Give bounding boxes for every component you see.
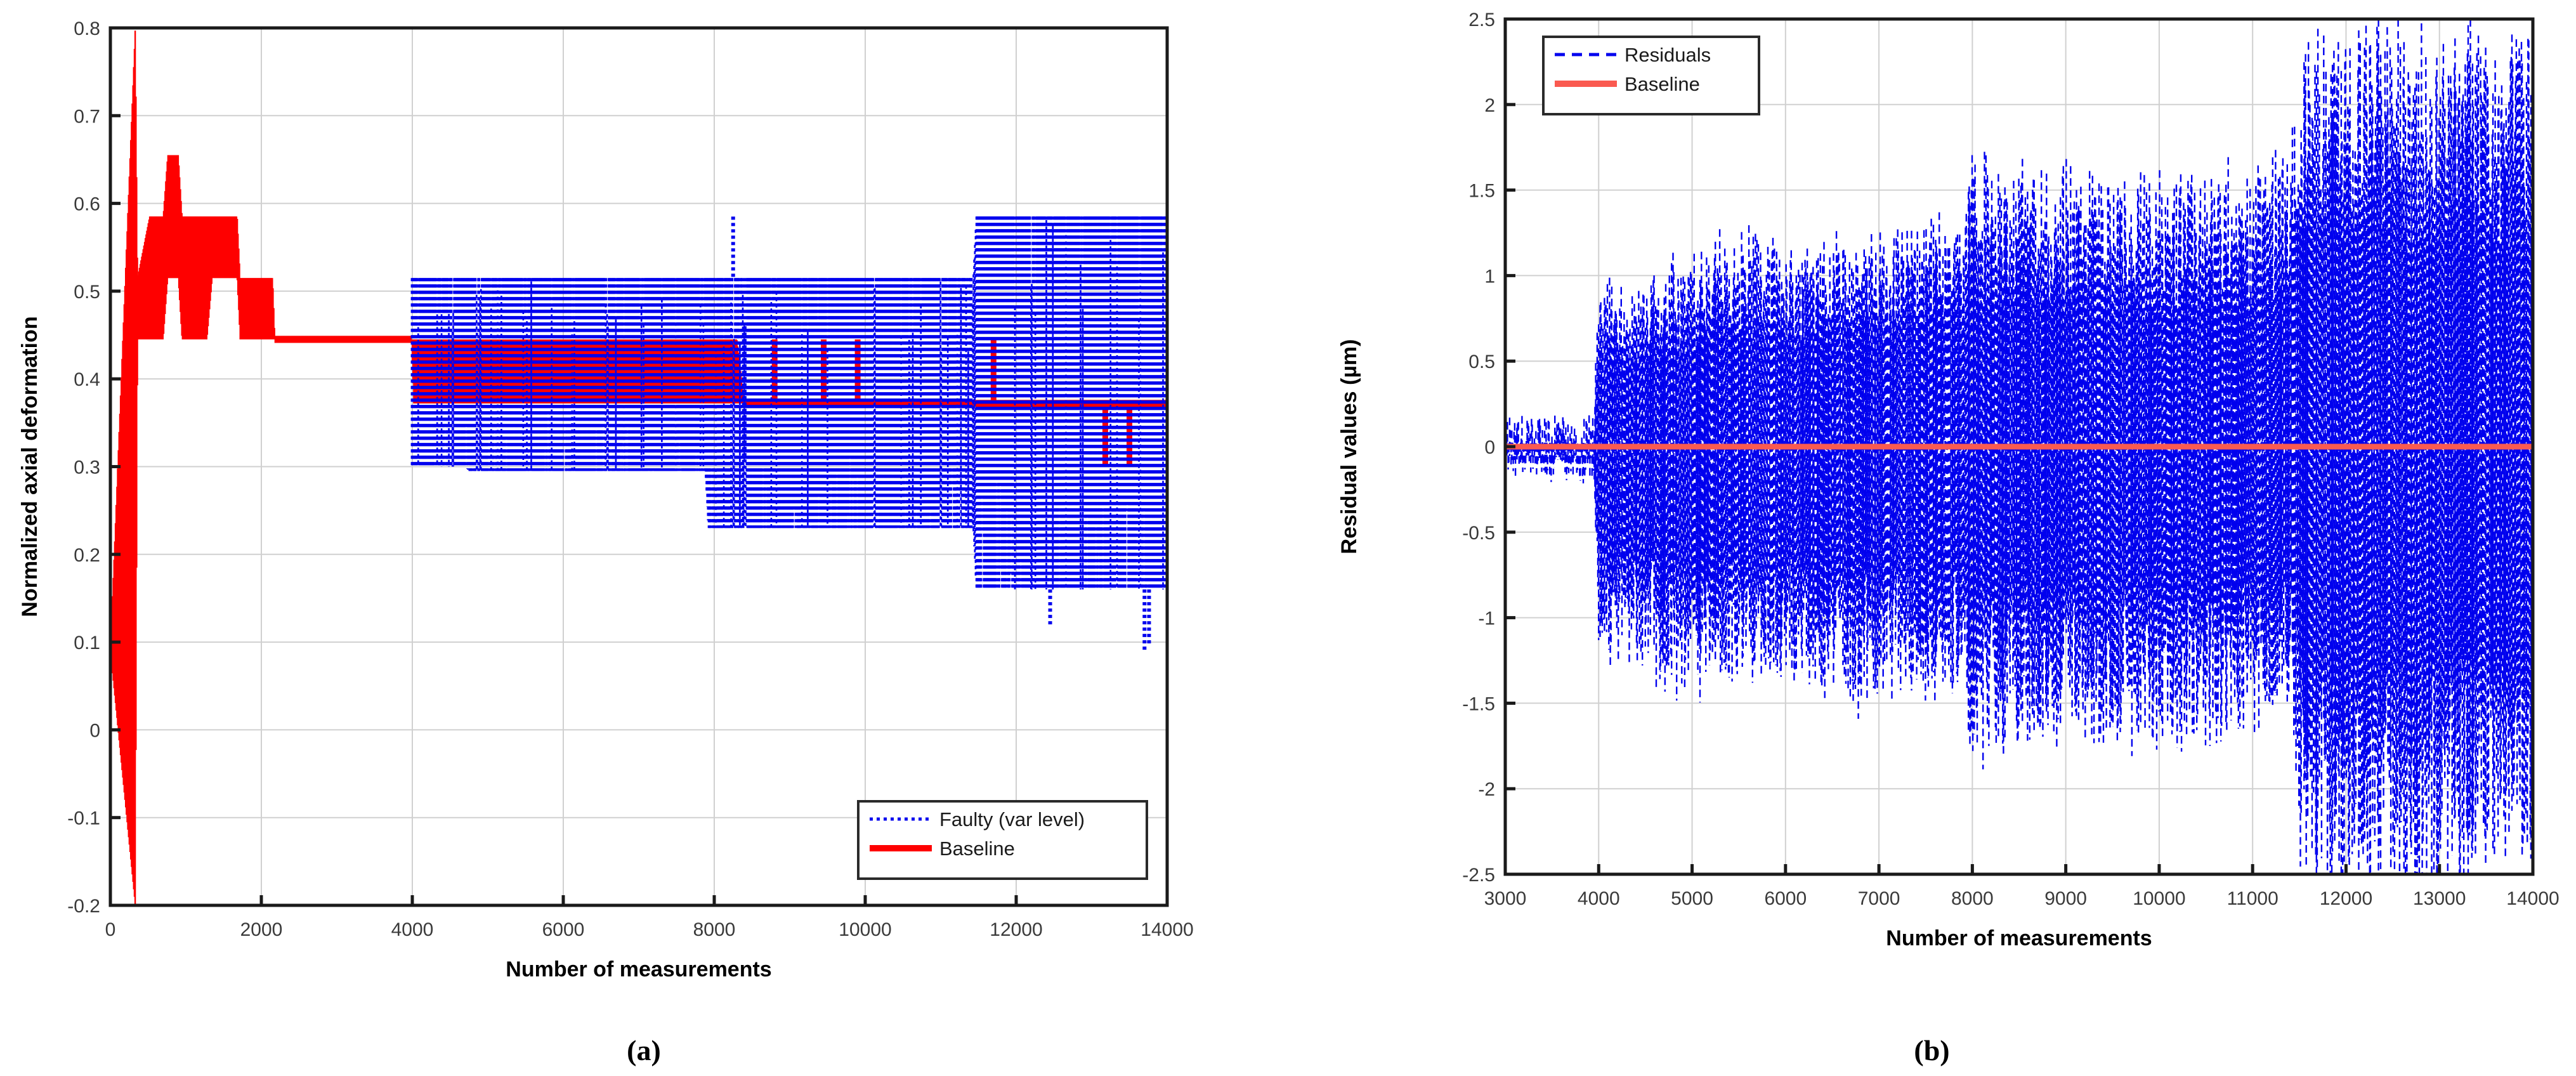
x-tick-label: 14000 (1141, 919, 1193, 940)
panel-b-caption: (b) (1288, 1033, 2576, 1067)
y-tick-label: 0.4 (74, 369, 100, 390)
x-tick-label: 13000 (2413, 888, 2466, 909)
y-tick-label: 0 (89, 720, 100, 741)
y-tick-label: 0.1 (74, 633, 100, 653)
y-tick-label: -2 (1478, 779, 1495, 800)
legend: ResidualsBaseline (1543, 37, 1759, 114)
legend: Faulty (var level)Baseline (858, 801, 1147, 879)
x-tick-label: 8000 (1951, 888, 1994, 909)
legend-label-0: Residuals (1625, 44, 1711, 66)
x-axis-title: Number of measurements (1886, 926, 2152, 950)
y-tick-label: -1.5 (1462, 693, 1495, 714)
y-tick-label: 0.5 (1468, 351, 1495, 372)
y-axis-title: Residual values (µm) (1337, 339, 1361, 554)
panel-a: -0.2-0.100.10.20.30.40.50.60.70.80200040… (0, 0, 1288, 1076)
x-axis-title: Number of measurements (506, 957, 771, 981)
y-tick-label: 0.8 (74, 18, 100, 39)
y-tick-label: -1 (1478, 608, 1495, 629)
legend-label-1: Baseline (939, 837, 1015, 860)
y-tick-label: -0.1 (67, 808, 100, 829)
x-tick-label: 12000 (2320, 888, 2372, 909)
y-tick-label: 0.6 (74, 194, 100, 215)
figure-container: -0.2-0.100.10.20.30.40.50.60.70.80200040… (0, 0, 2576, 1076)
x-tick-label: 14000 (2506, 888, 2559, 909)
y-tick-label: 1 (1484, 266, 1495, 287)
y-tick-label: 2.5 (1468, 10, 1495, 30)
x-tick-label: 8000 (693, 919, 736, 940)
x-tick-label: 11000 (2227, 888, 2279, 909)
x-tick-label: 5000 (1671, 888, 1713, 909)
y-tick-label: 0 (1484, 437, 1495, 458)
x-tick-label: 10000 (839, 919, 891, 940)
y-axis-title: Normalized axial deformation (18, 316, 42, 617)
x-tick-label: 3000 (1484, 888, 1527, 909)
legend-label-1: Baseline (1625, 73, 1700, 95)
y-tick-label: 1.5 (1468, 181, 1495, 202)
x-tick-label: 4000 (1578, 888, 1620, 909)
y-tick-label: -2.5 (1462, 865, 1495, 886)
x-tick-label: 10000 (2133, 888, 2185, 909)
y-tick-label: -0.2 (67, 896, 100, 917)
legend-label-0: Faulty (var level) (939, 808, 1085, 830)
x-tick-label: 6000 (542, 919, 585, 940)
panel-b: -2.5-2-1.5-1-0.500.511.522.5300040005000… (1288, 0, 2576, 1076)
y-tick-label: 0.2 (74, 545, 100, 566)
y-tick-label: 0.3 (74, 457, 100, 478)
x-tick-label: 2000 (240, 919, 283, 940)
chart-a: -0.2-0.100.10.20.30.40.50.60.70.80200040… (0, 0, 1288, 1028)
x-tick-label: 0 (105, 919, 116, 940)
y-tick-label: 0.7 (74, 106, 100, 127)
x-tick-label: 9000 (2044, 888, 2087, 909)
chart-b: -2.5-2-1.5-1-0.500.511.522.5300040005000… (1288, 0, 2576, 1028)
x-tick-label: 7000 (1858, 888, 1900, 909)
y-tick-label: -0.5 (1462, 523, 1495, 544)
x-tick-label: 4000 (391, 919, 434, 940)
panel-a-caption: (a) (0, 1033, 1288, 1067)
x-tick-label: 12000 (990, 919, 1042, 940)
y-tick-label: 2 (1484, 95, 1495, 116)
y-tick-label: 0.5 (74, 282, 100, 303)
x-tick-label: 6000 (1764, 888, 1807, 909)
